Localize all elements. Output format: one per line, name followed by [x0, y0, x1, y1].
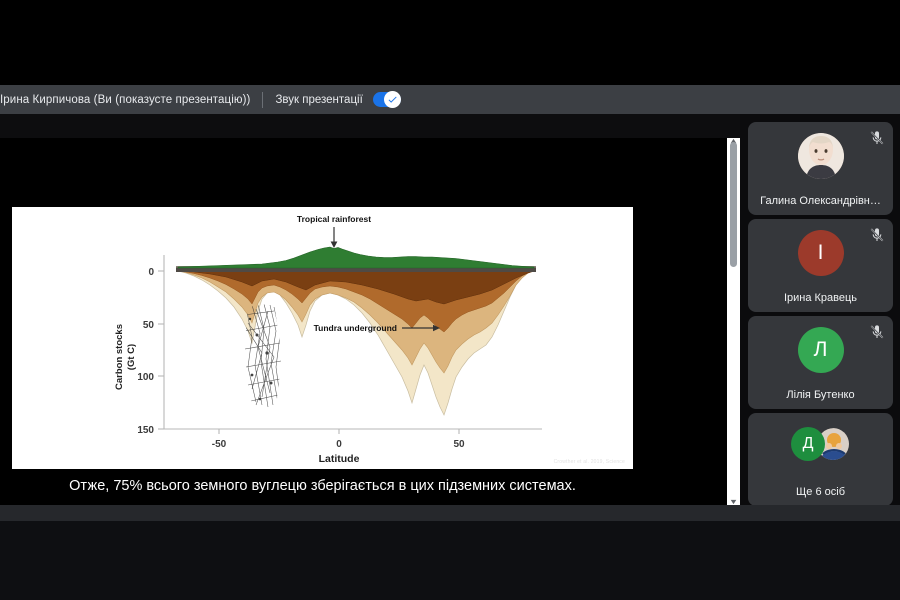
toolbar-divider [262, 92, 263, 108]
svg-text:50: 50 [453, 439, 465, 450]
more-participants-label: Ще 6 осіб [748, 486, 893, 498]
annotation-tundra-underground: Tundra underground [314, 323, 397, 333]
presentation-scrollbar[interactable] [727, 138, 740, 505]
avatar-container [748, 133, 893, 179]
avatar-initial: І [818, 241, 824, 265]
more-participants-tile[interactable]: Д Ще 6 осіб [748, 413, 893, 506]
presentation-stage: 0 50 100 150 -50 0 [0, 114, 740, 505]
avatar [798, 133, 844, 179]
svg-text:0: 0 [148, 267, 154, 278]
avatar-initial: Л [814, 338, 828, 362]
presenter-toolbar: Ірина Кирпичова (Ви (показусте презентац… [0, 85, 900, 114]
svg-text:Carbon stocks: Carbon stocks [114, 324, 125, 390]
bottom-toolbar-strip [0, 505, 900, 521]
scrollbar-thumb[interactable] [730, 142, 737, 267]
avatar: Л [798, 327, 844, 373]
annotation-arrow-down-icon [331, 242, 338, 249]
presenter-name-label: Ірина Кирпичова (Ви (показусте презентац… [0, 94, 250, 106]
participant-name: Лілія Бутенко [748, 389, 893, 401]
presentation-audio-toggle[interactable] [373, 92, 401, 107]
svg-text:150: 150 [137, 425, 154, 436]
avatar-initial: Д [803, 435, 814, 453]
bottom-black-band [0, 521, 900, 600]
annotation-tropical-rainforest: Tropical rainforest [297, 214, 371, 224]
svg-text:100: 100 [137, 372, 154, 383]
avatar: Д [791, 427, 825, 461]
participant-name: Галина Олександрівн… [748, 195, 893, 207]
vegetation-area [178, 247, 534, 268]
svg-text:(Gt C): (Gt C) [126, 344, 137, 370]
presentation-audio-label: Звук презентації [275, 94, 362, 106]
participant-name: Ірина Кравець [748, 292, 893, 304]
avatar-photo [798, 133, 844, 179]
avatar-container: Л [748, 327, 893, 373]
avatar: І [798, 230, 844, 276]
top-black-band [0, 0, 900, 85]
participant-tile[interactable]: Л Лілія Бутенко [748, 316, 893, 409]
svg-text:-50: -50 [212, 439, 227, 450]
toggle-knob [384, 91, 401, 108]
chart-svg: 0 50 100 150 -50 0 [12, 207, 633, 469]
slide[interactable]: 0 50 100 150 -50 0 [12, 207, 633, 469]
carbon-stocks-chart: 0 50 100 150 -50 0 [12, 207, 633, 469]
check-icon [387, 94, 398, 105]
participants-rail: Галина Олександрівн… І Ірина Кравець [748, 122, 893, 510]
chart-credit: Crowther et al. 2019, Science [554, 459, 625, 465]
more-avatars-group: Д [748, 427, 893, 461]
google-meet-window: Ірина Кирпичова (Ви (показусте презентац… [0, 0, 900, 600]
participant-tile[interactable]: І Ірина Кравець [748, 219, 893, 312]
participant-tile[interactable]: Галина Олександрівн… [748, 122, 893, 215]
avatar-container: І [748, 230, 893, 276]
live-caption: Отже, 75% всього земного вуглецю зберіга… [12, 478, 633, 494]
svg-text:50: 50 [143, 320, 155, 331]
svg-text:0: 0 [336, 439, 342, 450]
svg-text:Latitude: Latitude [319, 453, 360, 465]
presentation-canvas[interactable]: 0 50 100 150 -50 0 [0, 138, 727, 505]
